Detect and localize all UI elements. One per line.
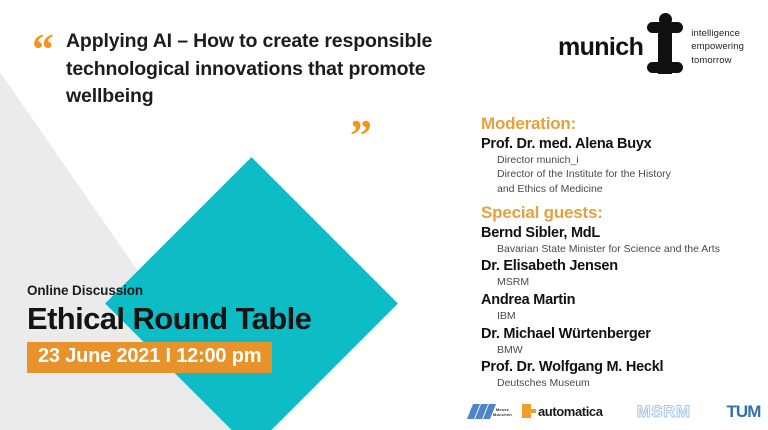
munich-i-glyph-icon — [645, 19, 685, 75]
headline-text: Applying AI – How to create responsible … — [66, 28, 472, 111]
tum-logo: TUM — [727, 403, 761, 420]
msrm-logo: MSRM — [637, 403, 691, 420]
guest-name: Bernd Sibler, MdL — [481, 224, 761, 242]
moderator-entry: Prof. Dr. med. Alena Buyx Director munic… — [481, 135, 761, 197]
guest-entry: Dr. Elisabeth Jensen MSRM — [481, 257, 761, 290]
tagline-line-2: empowering — [691, 41, 744, 52]
automatica-logo: automatica — [522, 404, 603, 418]
guest-entry: Andrea Martin IBM — [481, 291, 761, 324]
moderator-affiliation-3: and Ethics of Medicine — [481, 182, 761, 196]
messe-muenchen-mark-icon — [470, 404, 493, 419]
tagline-line-3: tomorrow — [691, 55, 731, 66]
guest-affiliation: MSRM — [481, 275, 761, 289]
moderator-affiliation-2: Director of the Institute for the Histor… — [481, 167, 761, 181]
guest-affiliation: BMW — [481, 343, 761, 357]
quote-close-icon: ” — [350, 114, 370, 158]
guest-name: Dr. Michael Würtenberger — [481, 325, 761, 343]
munich-i-tagline: intelligence empowering tomorrow — [691, 27, 744, 67]
munich-wordmark: munich — [558, 35, 643, 60]
messe-muenchen-caption: Messe München — [493, 407, 512, 417]
partner-logos-row: Messe München automatica MSRM TUM — [470, 396, 760, 426]
guest-affiliation: Deutsches Museum — [481, 376, 761, 390]
event-title-block: Online Discussion Ethical Round Table 23… — [27, 283, 427, 373]
automatica-wordmark: automatica — [538, 405, 603, 418]
tagline-line-1: intelligence — [691, 28, 740, 39]
automatica-square-icon — [522, 404, 536, 418]
event-title: Ethical Round Table — [27, 302, 427, 335]
quote-open-icon: “ — [32, 28, 52, 72]
guest-name: Andrea Martin — [481, 291, 761, 309]
guest-entry: Prof. Dr. Wolfgang M. Heckl Deutsches Mu… — [481, 358, 761, 391]
headline-quote-block: “ Applying AI – How to create responsibl… — [32, 28, 472, 111]
guest-entry: Bernd Sibler, MdL Bavarian State Ministe… — [481, 224, 761, 257]
moderator-affiliation-1: Director munich_i — [481, 153, 761, 167]
speakers-panel: Moderation: Prof. Dr. med. Alena Buyx Di… — [481, 114, 761, 392]
moderation-heading: Moderation: — [481, 114, 761, 134]
event-date-badge: 23 June 2021 I 12:00 pm — [27, 342, 272, 373]
munich-i-logo: munich intelligence empowering tomorrow — [558, 18, 744, 76]
event-kicker: Online Discussion — [27, 283, 427, 298]
special-guests-heading: Special guests: — [481, 203, 761, 223]
messe-muenchen-logo: Messe München — [470, 404, 512, 419]
guest-affiliation: Bavarian State Minister for Science and … — [481, 242, 761, 256]
guest-name: Dr. Elisabeth Jensen — [481, 257, 761, 275]
moderator-name: Prof. Dr. med. Alena Buyx — [481, 135, 761, 153]
guest-name: Prof. Dr. Wolfgang M. Heckl — [481, 358, 761, 376]
guest-affiliation: IBM — [481, 309, 761, 323]
guest-entry: Dr. Michael Würtenberger BMW — [481, 325, 761, 358]
